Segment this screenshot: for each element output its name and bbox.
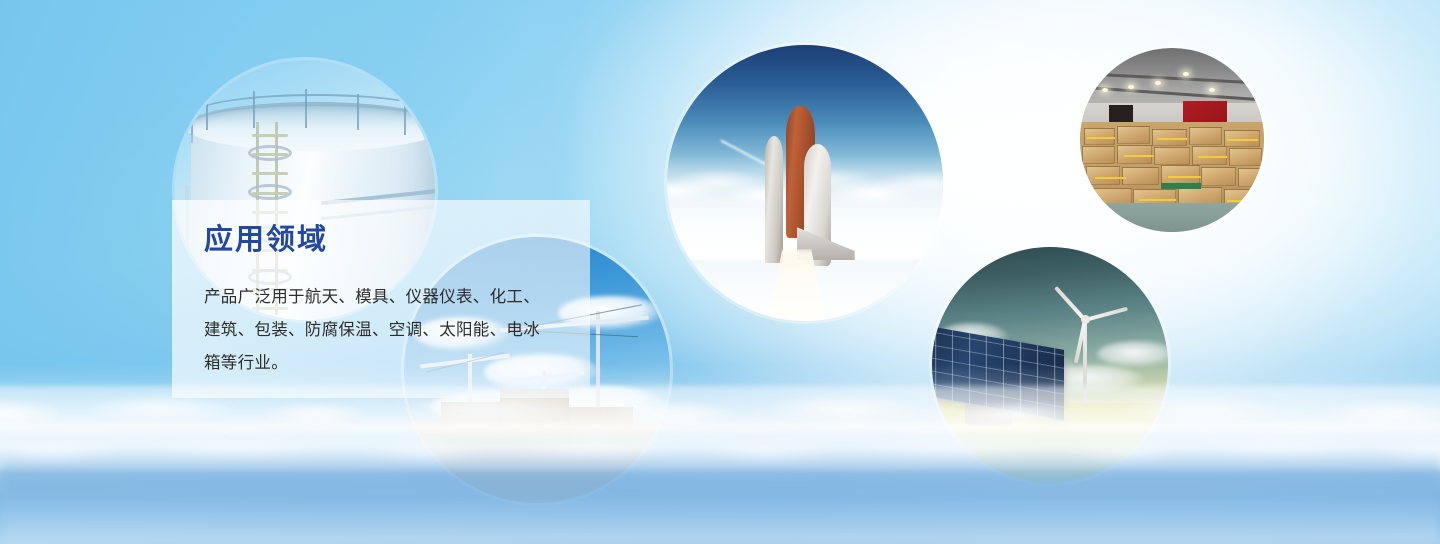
panel-description: 产品广泛用于航天、模具、仪器仪表、化工、建筑、包装、防腐保温、空调、太阳能、电冰… (204, 281, 556, 380)
circle-image-warehouse-boxes (1080, 48, 1264, 232)
warehouse-floor (1080, 203, 1264, 232)
application-fields-text-panel: 应用领域 产品广泛用于航天、模具、仪器仪表、化工、建筑、包装、防腐保温、空调、太… (172, 200, 590, 398)
space-shuttle-scene (667, 45, 943, 321)
tank-railing-lower-icon (191, 104, 435, 143)
page-title: 应用领域 (204, 226, 560, 255)
rail-post-icon (357, 94, 359, 130)
circle-image-space-shuttle-launch (667, 45, 943, 321)
rail-post-icon (206, 99, 208, 130)
application-fields-banner: 应用领域 产品广泛用于航天、模具、仪器仪表、化工、建筑、包装、防腐保温、空调、太… (0, 0, 1440, 544)
rail-post-icon (404, 104, 406, 135)
solid-rocket-booster-icon (765, 136, 783, 263)
rail-post-icon (305, 89, 307, 128)
cloud-haze (0, 452, 1440, 544)
ceiling-light-icon (1128, 85, 1134, 89)
ceiling-light-icon (1183, 72, 1189, 76)
warehouse-scene (1080, 48, 1264, 232)
